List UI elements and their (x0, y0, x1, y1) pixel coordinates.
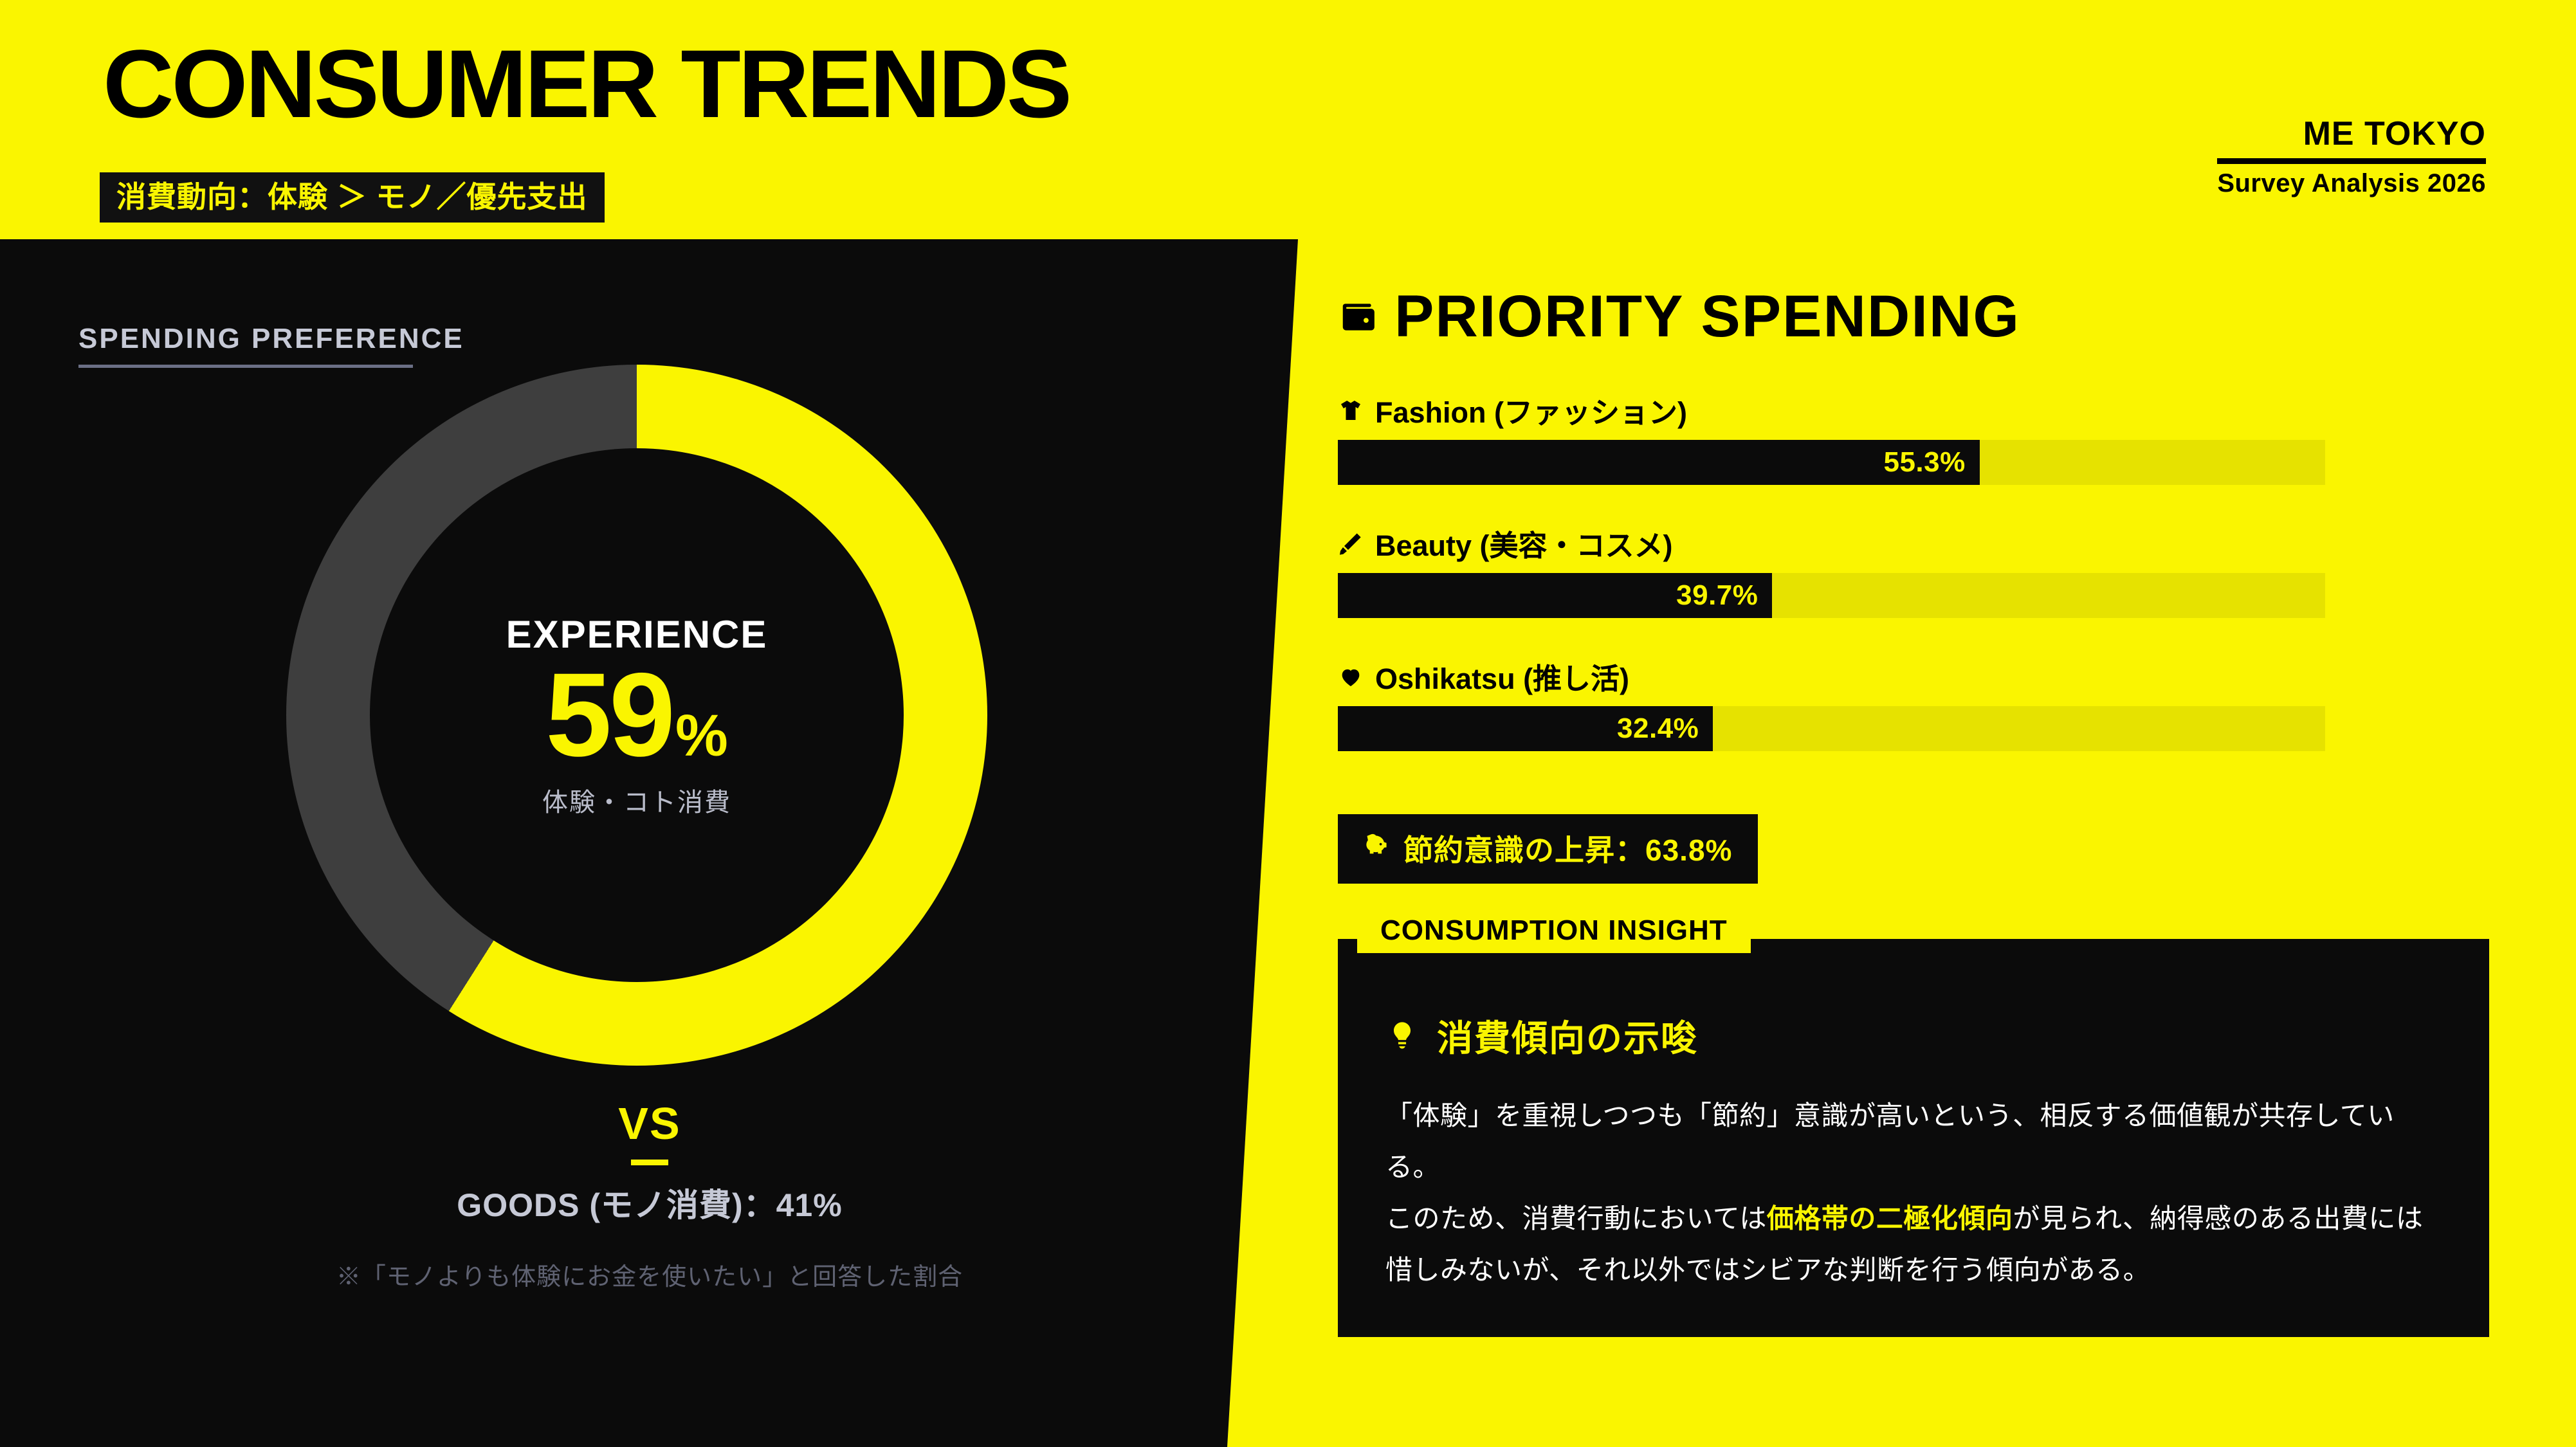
insight-paragraph-2-pre: このため、消費行動においては (1385, 1203, 1767, 1233)
bar-row: Beauty (美容・コスメ) 39.7% (1338, 522, 2489, 618)
vs-comparison-block: VS GOODS (モノ消費)：41% ※「モノよりも体験にお金を使いたい」と回… (0, 1098, 1299, 1292)
priority-spending-panel: PRIORITY SPENDING Fashion (ファッション) 55.3% (1338, 283, 2489, 1337)
page-subtitle-band: 消費動向：体験 ＞ モノ／優先支出 (100, 172, 605, 223)
insight-header: 消費傾向の示唆 (1385, 1010, 2442, 1062)
bar-track: 32.4% (1338, 706, 2325, 751)
spending-preference-panel: SPENDING PREFERENCE EXPERIENCE 59 % 体験・コ… (0, 239, 1299, 1447)
insight-highlight: 価格帯の二極化傾向 (1767, 1203, 2013, 1233)
bar-value: 55.3% (1883, 446, 1979, 478)
bar-value: 32.4% (1617, 713, 1713, 745)
page-header: CONSUMER TRENDS 消費動向：体験 ＞ モノ／優先支出 ME TOK… (0, 0, 2576, 239)
vs-label: VS (0, 1098, 1299, 1149)
savings-badge-text: 節約意識の上昇：63.8% (1403, 827, 1732, 869)
bar-row: Oshikatsu (推し活) 32.4% (1338, 655, 2489, 751)
brand-name: ME TOKYO (2217, 116, 2486, 152)
insight-paragraph-1: 「体験」を重視しつつも「節約」意識が高いという、相反する価値観が共存している。 (1385, 1100, 2395, 1182)
insight-tab-label: CONSUMPTION INSIGHT (1357, 911, 1751, 953)
bar-track: 39.7% (1338, 573, 2325, 618)
bar-row: Fashion (ファッション) 55.3% (1338, 389, 2489, 485)
bar-label-text: Beauty (美容・コスメ) (1375, 522, 1673, 564)
bar-value: 39.7% (1676, 579, 1772, 612)
consumption-insight-card: CONSUMPTION INSIGHT 消費傾向の示唆 「体験」を重視しつつも「… (1338, 939, 2489, 1337)
vs-divider (631, 1160, 668, 1165)
donut-center-unit: % (675, 702, 728, 770)
savings-badge: 節約意識の上昇：63.8% (1338, 814, 1758, 884)
bar-label-row: Oshikatsu (推し活) (1338, 655, 2489, 697)
bar-track: 55.3% (1338, 440, 2325, 485)
goods-value: GOODS (モノ消費)：41% (0, 1179, 1299, 1226)
footnote: ※「モノよりも体験にお金を使いたい」と回答した割合 (0, 1257, 1299, 1292)
donut-center-content: EXPERIENCE 59 % 体験・コト消費 (286, 365, 987, 1066)
brand-divider (2217, 158, 2486, 164)
bar-label-text: Oshikatsu (推し活) (1375, 655, 1629, 697)
bar-label-row: Fashion (ファッション) (1338, 389, 2489, 431)
section-title-priority-spending: PRIORITY SPENDING (1394, 283, 2020, 350)
section-label-spending-preference: SPENDING PREFERENCE (78, 323, 464, 355)
donut-center-value: 59 (545, 660, 673, 770)
bar-fill: 55.3% (1338, 440, 1980, 485)
bar-label-row: Beauty (美容・コスメ) (1338, 522, 2489, 564)
insight-body: 「体験」を重視しつつも「節約」意識が高いという、相反する価値観が共存している。 … (1385, 1090, 2442, 1296)
wallet-icon (1338, 297, 1378, 337)
heart-icon (1338, 664, 1364, 689)
tshirt-icon (1338, 397, 1364, 423)
piggy-bank-icon (1360, 830, 1389, 867)
bar-fill: 32.4% (1338, 706, 1713, 751)
bar-label-text: Fashion (ファッション) (1375, 389, 1687, 431)
donut-center-sublabel: 体験・コト消費 (542, 781, 731, 819)
priority-spending-header: PRIORITY SPENDING (1338, 283, 2489, 350)
donut-chart: EXPERIENCE 59 % 体験・コト消費 (286, 365, 987, 1066)
insight-box: 消費傾向の示唆 「体験」を重視しつつも「節約」意識が高いという、相反する価値観が… (1338, 939, 2489, 1337)
lipstick-icon (1338, 531, 1364, 556)
lightbulb-icon (1385, 1019, 1419, 1053)
brand-subtitle: Survey Analysis 2026 (2217, 169, 2486, 198)
bar-fill: 39.7% (1338, 573, 1772, 618)
page-title: CONSUMER TRENDS (103, 35, 1070, 132)
insight-title: 消費傾向の示唆 (1437, 1010, 1698, 1062)
brand-block: ME TOKYO Survey Analysis 2026 (2217, 116, 2486, 198)
donut-center-value-row: 59 % (545, 660, 728, 770)
